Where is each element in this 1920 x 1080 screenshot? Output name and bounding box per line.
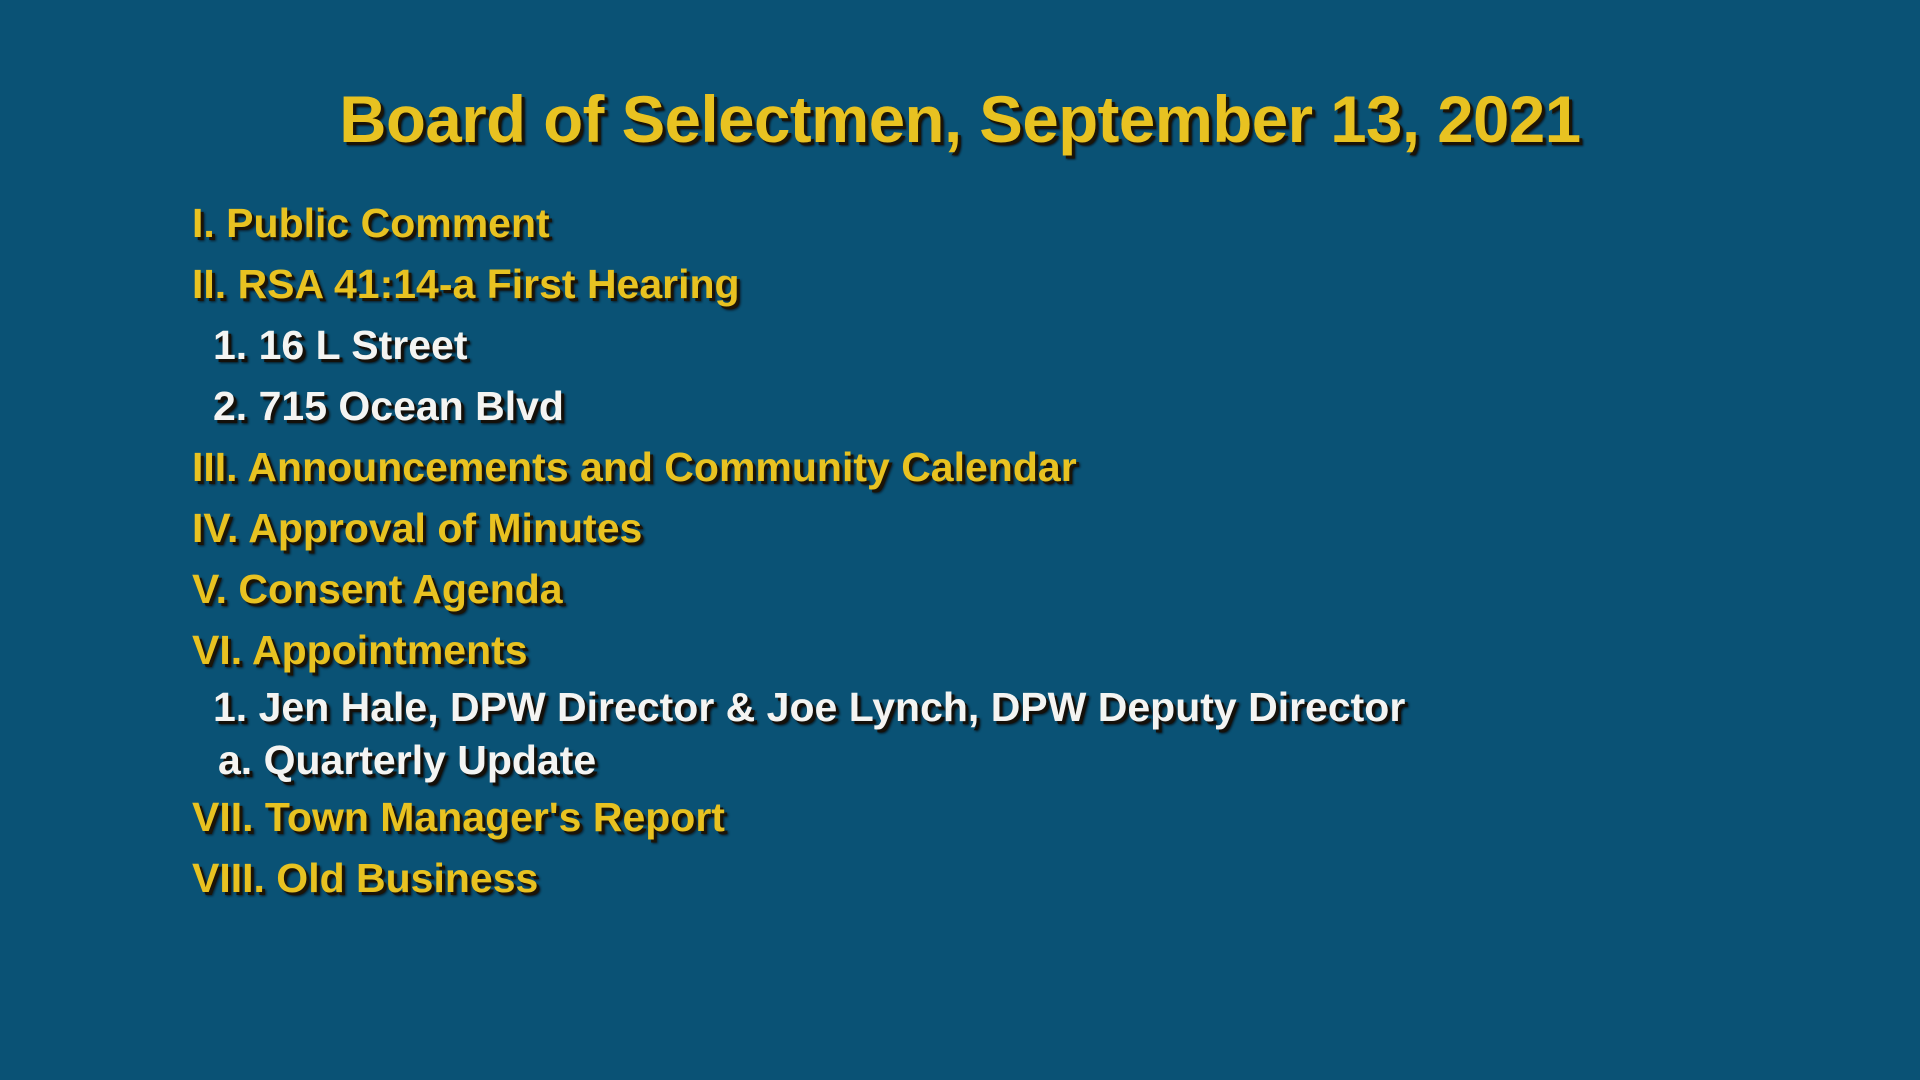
agenda-item-viii-old-business: VIII. Old Business bbox=[0, 848, 1920, 909]
agenda-item-ii-rsa-first-hearing: II. RSA 41:14-a First Hearing bbox=[0, 254, 1920, 315]
agenda-item-iii-announcements-and-community-calendar: III. Announcements and Community Calenda… bbox=[0, 437, 1920, 498]
agenda-item-vii-town-managers-report: VII. Town Manager's Report bbox=[0, 787, 1920, 848]
agenda-subitem-715-ocean-blvd: 2. 715 Ocean Blvd bbox=[0, 376, 1920, 437]
agenda-slide: Board of Selectmen, September 13, 2021 I… bbox=[0, 0, 1920, 1080]
agenda-subitem-jen-hale-joe-lynch: 1. Jen Hale, DPW Director & Joe Lynch, D… bbox=[0, 681, 1920, 733]
agenda-subitem-16-l-street: 1. 16 L Street bbox=[0, 315, 1920, 376]
agenda-item-v-consent-agenda: V. Consent Agenda bbox=[0, 559, 1920, 620]
page-title: Board of Selectmen, September 13, 2021 bbox=[339, 86, 1580, 152]
agenda-list: I. Public Comment II. RSA 41:14-a First … bbox=[0, 193, 1920, 909]
agenda-item-vi-appointments: VI. Appointments bbox=[0, 620, 1920, 681]
agenda-item-i-public-comment: I. Public Comment bbox=[0, 193, 1920, 254]
slide-title-container: Board of Selectmen, September 13, 2021 bbox=[0, 86, 1920, 152]
agenda-item-iv-approval-of-minutes: IV. Approval of Minutes bbox=[0, 498, 1920, 559]
agenda-subitem-quarterly-update: a. Quarterly Update bbox=[0, 733, 1920, 787]
